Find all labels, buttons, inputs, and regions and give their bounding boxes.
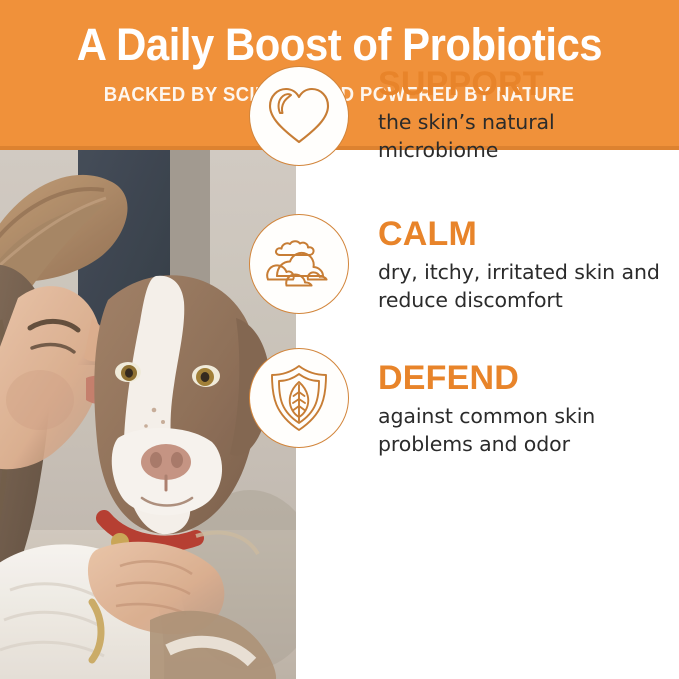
benefit-text-support: SUPPORT the skin’s natural microbiome (378, 66, 673, 164)
heart-icon (249, 66, 349, 166)
benefit-heading-support: SUPPORT (378, 66, 673, 103)
benefit-body-support: the skin’s natural microbiome (378, 108, 673, 164)
benefit-text-calm: CALM dry, itchy, irritated skin and redu… (378, 216, 673, 314)
benefit-body-calm: dry, itchy, irritated skin and reduce di… (378, 258, 673, 314)
benefit-heading-calm: CALM (378, 216, 673, 253)
page-title: A Daily Boost of Probiotics (77, 20, 602, 70)
benefit-text-defend: DEFEND against common skin problems and … (378, 360, 673, 458)
shield-leaf-icon (249, 348, 349, 448)
benefit-body-defend: against common skin problems and odor (378, 402, 673, 458)
infographic-canvas: A Daily Boost of Probiotics BACKED BY SC… (0, 0, 679, 679)
clouds-icon (249, 214, 349, 314)
benefit-heading-defend: DEFEND (378, 360, 673, 397)
